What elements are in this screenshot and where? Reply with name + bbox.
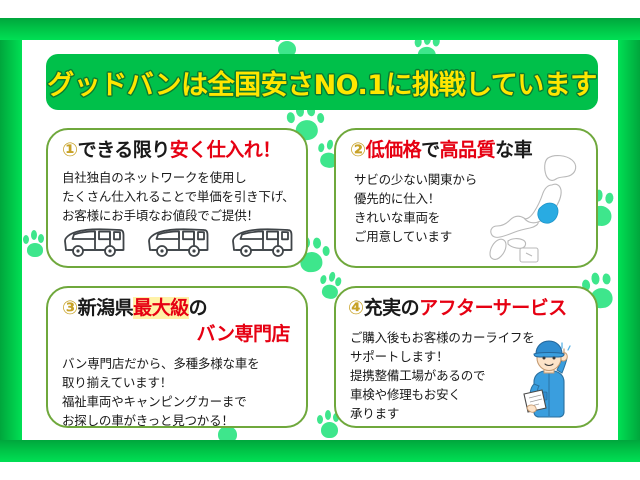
feature-2-body-line-3: きれいな車両を <box>354 208 477 227</box>
feature-3-heading-line-2-text: バン専門店 <box>197 323 290 345</box>
feature-4-body-line-4: 車検や修理もお安く <box>350 385 535 404</box>
feature-3-body-line-2: 取り揃えています！ <box>62 373 259 392</box>
feature-2-heading-part-2: で <box>421 139 440 161</box>
feature-4-body-line-3: 提携整備工場があるので <box>350 366 535 385</box>
feature-2-body-line-4: ご用意しています <box>354 227 477 246</box>
feature-2-body-line-2: 優先的に仕入！ <box>354 189 477 208</box>
headline-text: グッドバンは全国安さNO.1に挑戦しています <box>47 63 597 102</box>
feature-3-heading-highlight: 最大級 <box>133 297 189 319</box>
feature-3-body-line-1: バン専門店だから、多種多様な車を <box>62 354 259 373</box>
frame-top-bar <box>0 18 640 40</box>
feature-1-body-line-1: 自社独自のネットワークを使用し <box>62 168 294 187</box>
feature-1-body-line-2: たくさん仕入れることで単価を引き下げ、 <box>62 187 294 206</box>
feature-1-body: 自社独自のネットワークを使用し たくさん仕入れることで単価を引き下げ、 お客様に… <box>62 168 294 225</box>
ad-canvas: グッドバンは全国安さNO.1に挑戦しています ①できる限り安く仕入れ！ 自社独自… <box>22 40 618 440</box>
feature-4-number: ④ <box>348 297 364 319</box>
feature-2-number: ② <box>350 139 366 161</box>
van-icon <box>146 226 210 260</box>
headline-banner: グッドバンは全国安さNO.1に挑戦しています <box>46 54 598 110</box>
feature-1-heading: ①できる限り安く仕入れ！ <box>62 140 281 162</box>
feature-box-1: ①できる限り安く仕入れ！ 自社独自のネットワークを使用し たくさん仕入れることで… <box>46 128 308 268</box>
feature-3-body: バン専門店だから、多種多様な車を 取り揃えています！ 福祉車両やキャンピングカー… <box>62 354 259 428</box>
van-icon <box>230 226 294 260</box>
feature-3-body-line-4: お探しの車がきっと見つかる！ <box>62 411 259 428</box>
feature-4-heading-part-2: アフターサービス <box>419 297 567 319</box>
frame-left-bar <box>0 40 22 440</box>
feature-box-4: ④充実のアフターサービス ご購入後もお客様のカーライフを サポートします！ 提携… <box>334 286 598 428</box>
feature-3-heading-part-3: の <box>189 297 208 319</box>
japan-map-illustration <box>486 152 590 264</box>
feature-box-3: ③新潟県最大級の バン専門店 バン専門店だから、多種多様な車を 取り揃えています… <box>46 286 308 428</box>
feature-4-body-line-5: 承ります <box>350 404 535 423</box>
feature-4-body-line-2: サポートします！ <box>350 347 535 366</box>
feature-3-heading-line-1: ③新潟県最大級の <box>62 298 207 320</box>
frame-right-bar <box>618 40 640 440</box>
feature-3-body-line-3: 福祉車両やキャンピングカーまで <box>62 392 259 411</box>
mechanic-character-illustration <box>512 336 586 422</box>
feature-3-number: ③ <box>62 297 78 319</box>
advertisement-banner: グッドバンは全国安さNO.1に挑戦しています ①できる限り安く仕入れ！ 自社独自… <box>0 0 640 480</box>
feature-4-heading: ④充実のアフターサービス <box>348 298 567 320</box>
feature-2-body-line-1: サビの少ない関東から <box>354 170 477 189</box>
feature-1-number: ① <box>62 139 78 161</box>
feature-1-heading-part-1: できる限り <box>78 139 170 161</box>
frame-bottom-bar <box>0 440 640 462</box>
feature-2-body: サビの少ない関東から 優先的に仕入！ きれいな車両を ご用意しています <box>354 170 477 246</box>
feature-3-heading-part-1: 新潟県 <box>78 297 134 319</box>
van-icon <box>62 226 126 260</box>
feature-3-heading-line-2: バン専門店 <box>197 324 290 346</box>
feature-box-2: ②低価格で高品質な車 サビの少ない関東から 優先的に仕入！ きれいな車両を ご用… <box>334 128 598 268</box>
feature-4-heading-part-1: 充実の <box>364 297 420 319</box>
feature-4-body-line-1: ご購入後もお客様のカーライフを <box>350 328 535 347</box>
feature-4-body: ご購入後もお客様のカーライフを サポートします！ 提携整備工場があるので 車検や… <box>350 328 535 423</box>
map-region-kanto <box>538 203 558 223</box>
van-icon-row <box>62 222 294 260</box>
feature-2-heading-part-1: 低価格 <box>366 139 422 161</box>
feature-1-heading-part-2: 安く仕入れ！ <box>170 139 281 161</box>
